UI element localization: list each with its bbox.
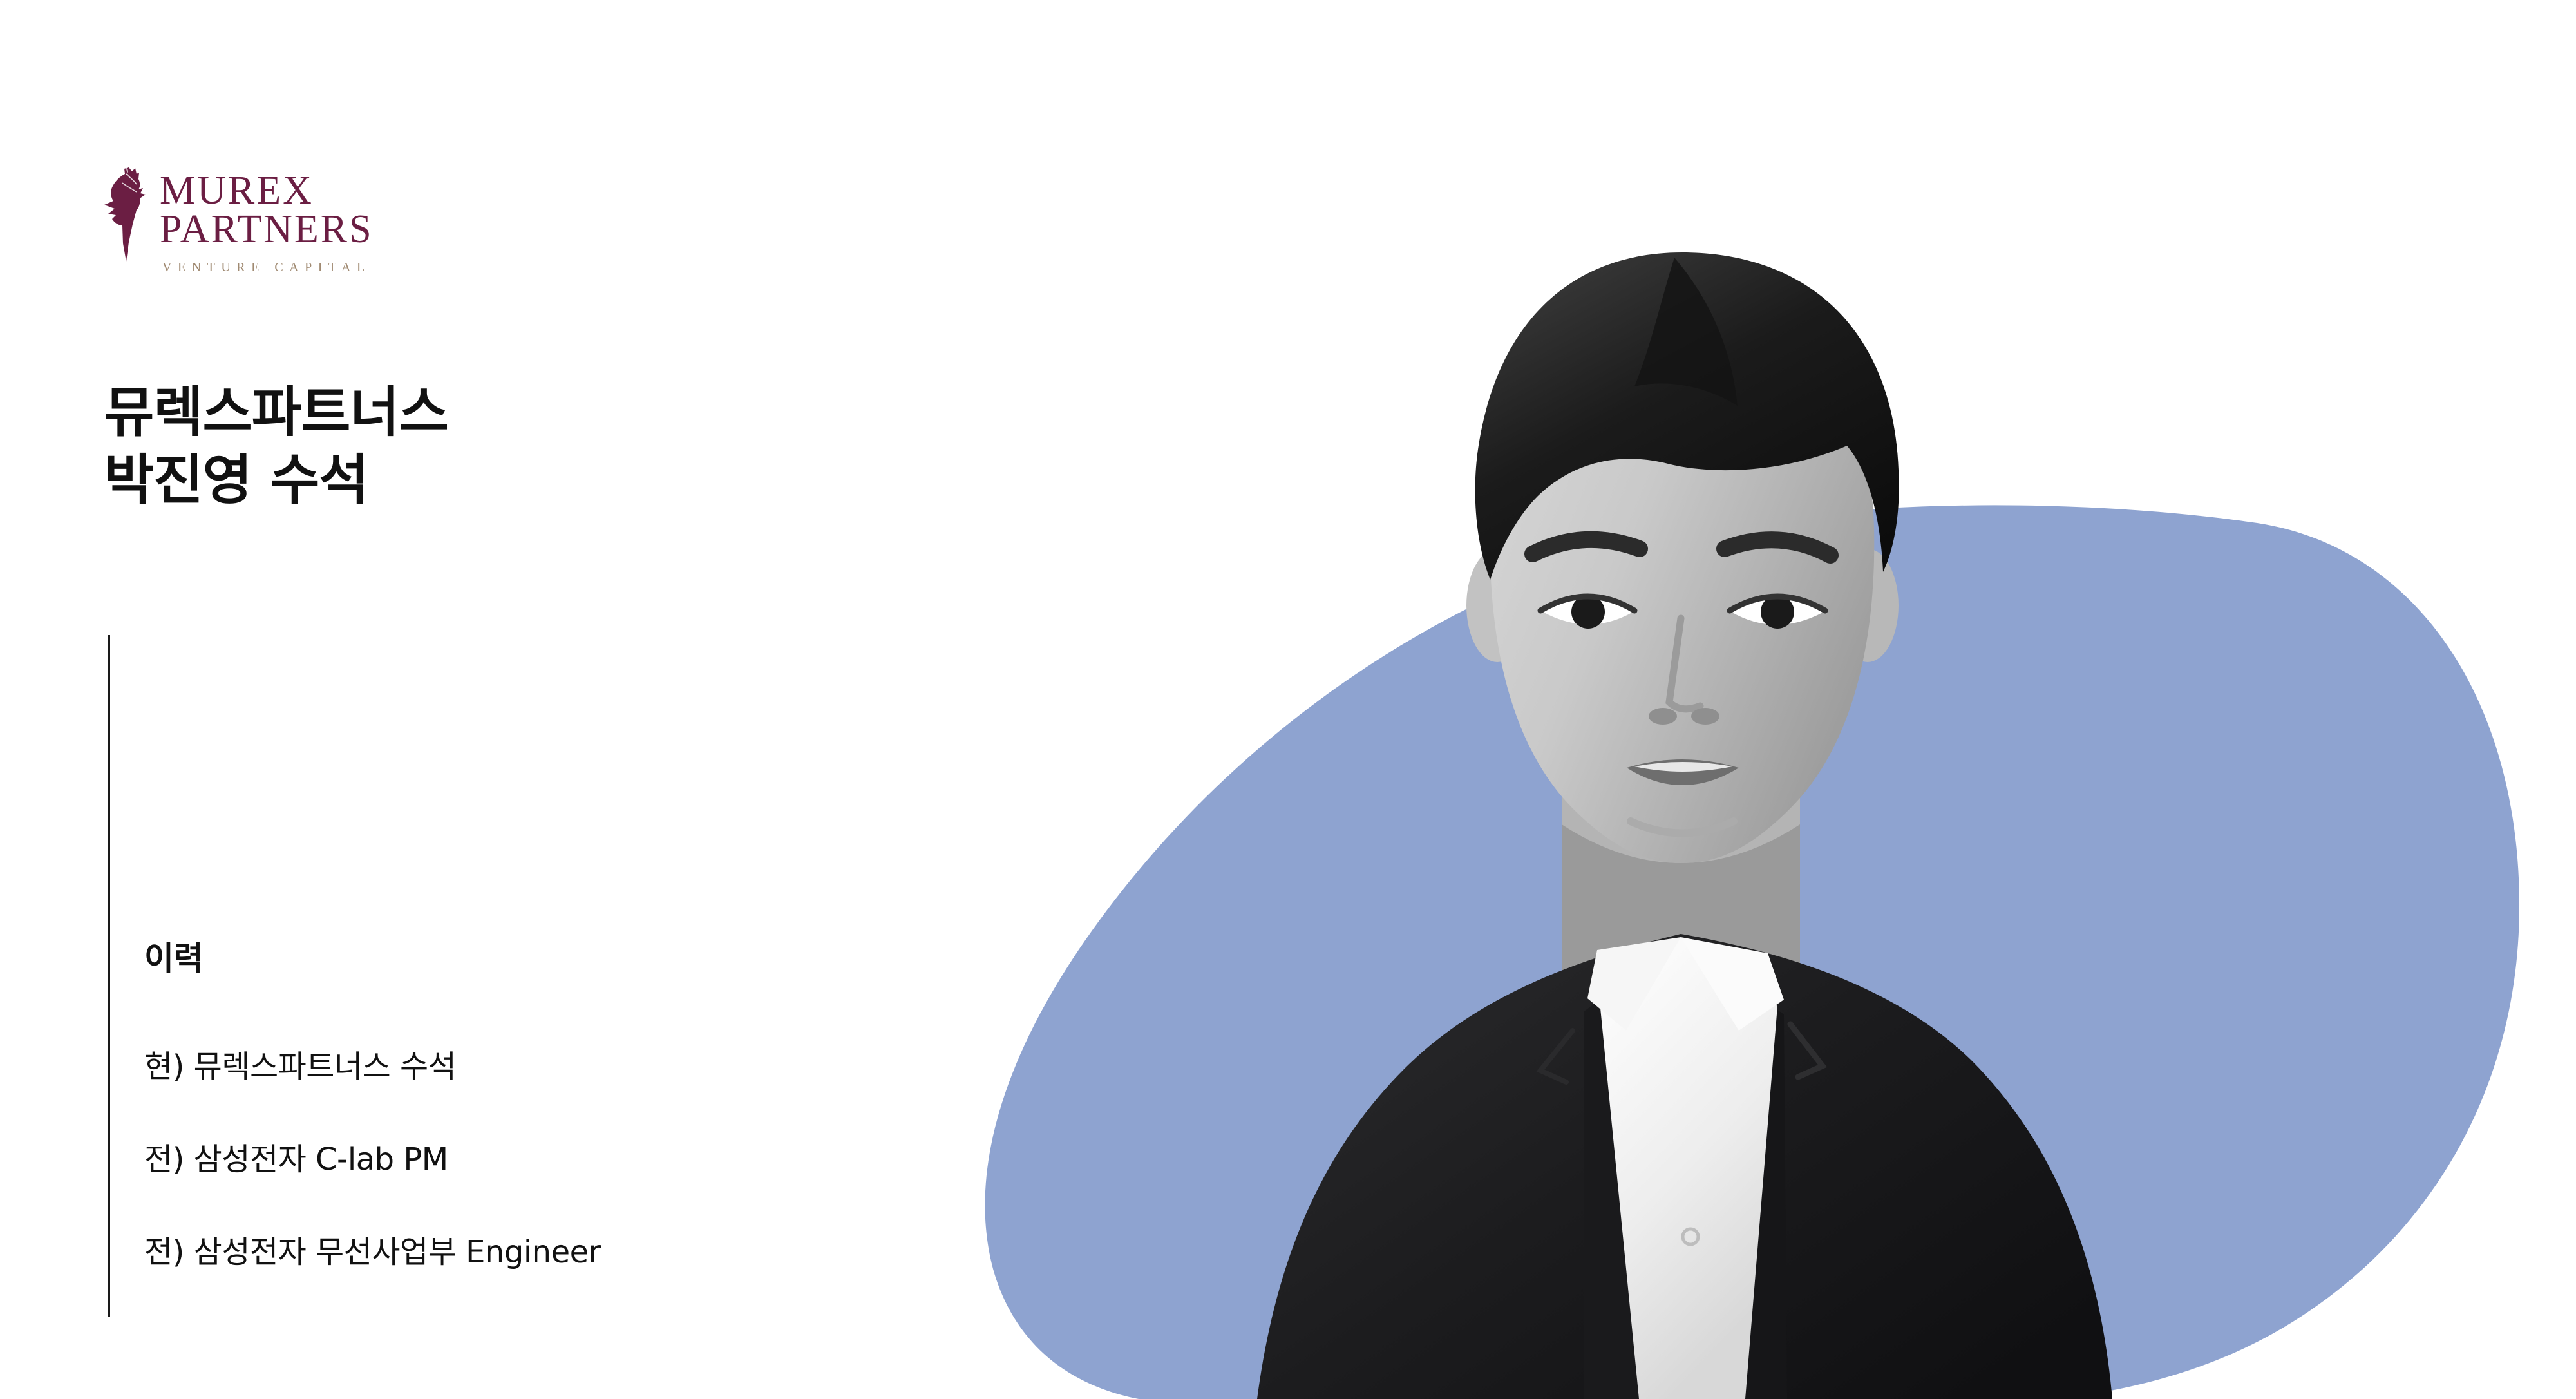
organic-blob-shape [979, 490, 2524, 1399]
logo-name-line-2: PARTNERS [160, 210, 374, 249]
murex-partners-logo: MUREX PARTNERS VENTURE CAPITAL [103, 166, 374, 275]
portrait-photo [1018, 193, 2344, 1399]
page-title: 뮤렉스파트너스 박진영 수석 [104, 379, 448, 514]
list-item: 현) 뮤렉스파트너스 수석 [144, 1051, 601, 1082]
logo-name-line-1: MUREX [160, 171, 314, 210]
career-section: 이력 현) 뮤렉스파트너스 수석 전) 삼성전자 C-lab PM 전) 삼성전… [144, 933, 601, 1268]
career-section-title: 이력 [144, 933, 601, 979]
list-item: 전) 삼성전자 무선사업부 Engineer [144, 1237, 601, 1268]
profile-slide: MUREX PARTNERS VENTURE CAPITAL 뮤렉스파트너스 박… [0, 0, 2576, 1399]
vertical-divider [108, 635, 110, 1317]
logo-tagline: VENTURE CAPITAL [162, 260, 371, 275]
headline-company: 뮤렉스파트너스 [104, 379, 448, 446]
headline-person: 박진영 수석 [104, 446, 448, 514]
list-item: 전) 삼성전자 C-lab PM [144, 1144, 601, 1175]
career-list: 현) 뮤렉스파트너스 수석 전) 삼성전자 C-lab PM 전) 삼성전자 무… [144, 1051, 601, 1268]
murex-shell-icon [103, 166, 146, 263]
